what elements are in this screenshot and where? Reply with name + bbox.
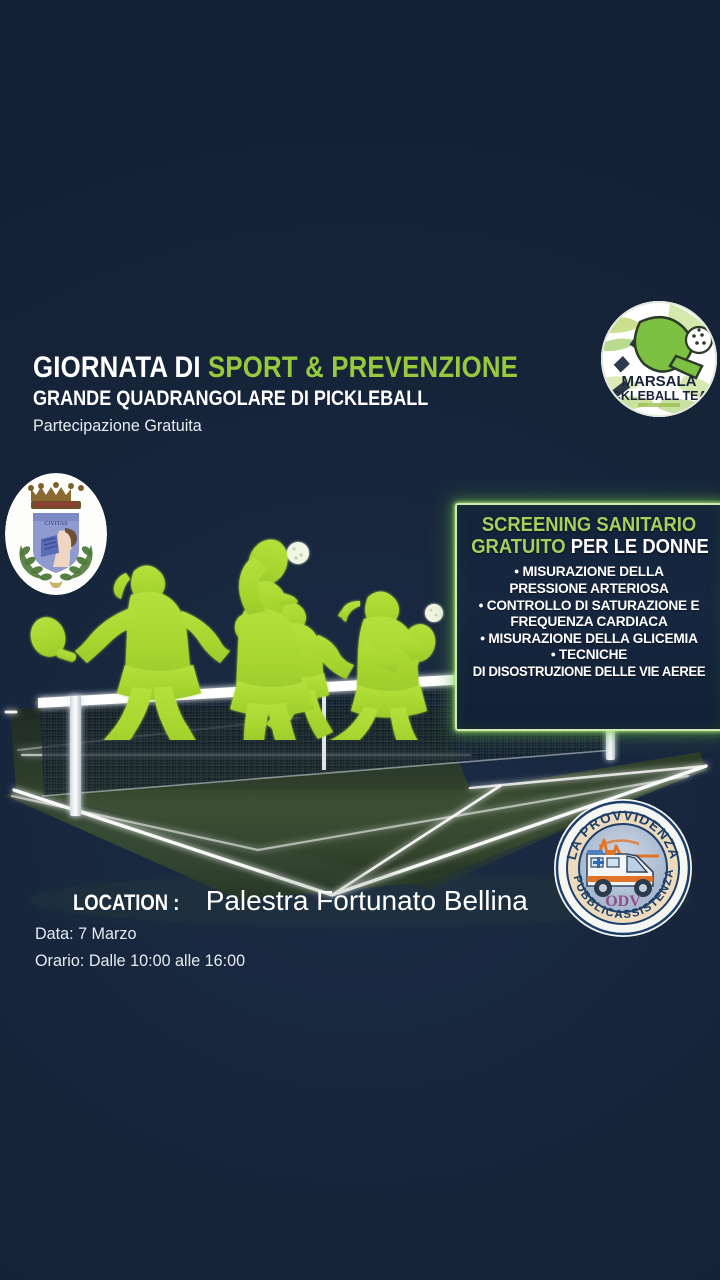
pickleball-team-illustration: MARSALA PICKLEBALL TEAM [600, 300, 718, 418]
logo-brush-strokes: MARSALA PICKLEBALL TEAM [600, 300, 718, 418]
screening-item: PRESSIONE ARTERIOSA [466, 581, 712, 598]
event-time: Orario: Dalle 10:00 alle 16:00 [35, 951, 605, 971]
screening-title-line-1: SCREENING SANITARIO [471, 515, 707, 536]
headline-green-part: SPORT & PREVENZIONE [208, 351, 518, 384]
event-info-block: LOCATION : Palestra Fortunato Bellina Da… [35, 885, 635, 971]
logo-team-name: PICKLEBALL TEAM [600, 389, 718, 403]
headline-line-3: Partecipazione Gratuita [33, 417, 527, 436]
screening-item: DI DISOSTRUZIONE DELLE VIE AEREE [466, 664, 712, 680]
location-row: LOCATION : Palestra Fortunato Bellina [35, 885, 635, 917]
event-date: Data: 7 Marzo [35, 924, 605, 944]
poster-root: GIORNATA DI SPORT & PREVENZIONE GRANDE Q… [0, 0, 720, 1280]
crest-shield: CIVITAS [33, 513, 79, 573]
provvidenza-illustration: ODV LA PROVVIDENZA PUBBLICA ASSISTENZA [553, 798, 693, 938]
logo-tagline-blur [638, 403, 680, 407]
screening-service-list: • MISURAZIONE DELLA PRESSIONE ARTERIOSA … [461, 564, 717, 680]
player-3 [230, 534, 354, 740]
screening-item: • CONTROLLO DI SATURAZIONE E [466, 598, 712, 615]
headline-block: GIORNATA DI SPORT & PREVENZIONE GRANDE Q… [33, 352, 553, 436]
comune-crest-logo: CIVITAS [5, 473, 107, 595]
headline-line-2: GRANDE QUADRANGOLARE DI PICKLEBALL [33, 388, 480, 410]
screening-title-green: GRATUITO [471, 536, 571, 558]
pickleball-right [425, 604, 443, 622]
screening-title-line-2: GRATUITO PER LE DONNE [471, 537, 707, 558]
logo-team-city: MARSALA [622, 373, 697, 390]
headline-line-1: GIORNATA DI SPORT & PREVENZIONE [33, 352, 480, 383]
marsala-pickleball-team-logo: MARSALA PICKLEBALL TEAM [600, 300, 718, 418]
screening-item: FREQUENZA CARDIACA [466, 614, 712, 631]
location-label: LOCATION : [73, 890, 179, 916]
headline-white-part: GIORNATA DI [33, 351, 208, 384]
la-provvidenza-logo: ODV LA PROVVIDENZA PUBBLICA ASSISTENZA [553, 798, 693, 938]
screening-item: • MISURAZIONE DELLA GLICEMIA [466, 631, 712, 648]
comune-crest-illustration: CIVITAS [5, 473, 107, 595]
screening-item: • MISURAZIONE DELLA [466, 564, 712, 581]
screening-title-white: PER LE DONNE [571, 536, 709, 558]
screening-item: • TECNICHE [466, 647, 712, 664]
location-value: Palestra Fortunato Bellina [206, 885, 528, 917]
svg-text:CIVITAS: CIVITAS [44, 521, 67, 527]
pickleball [287, 542, 309, 564]
screening-info-box: SCREENING SANITARIO GRATUITO PER LE DONN… [455, 503, 720, 731]
